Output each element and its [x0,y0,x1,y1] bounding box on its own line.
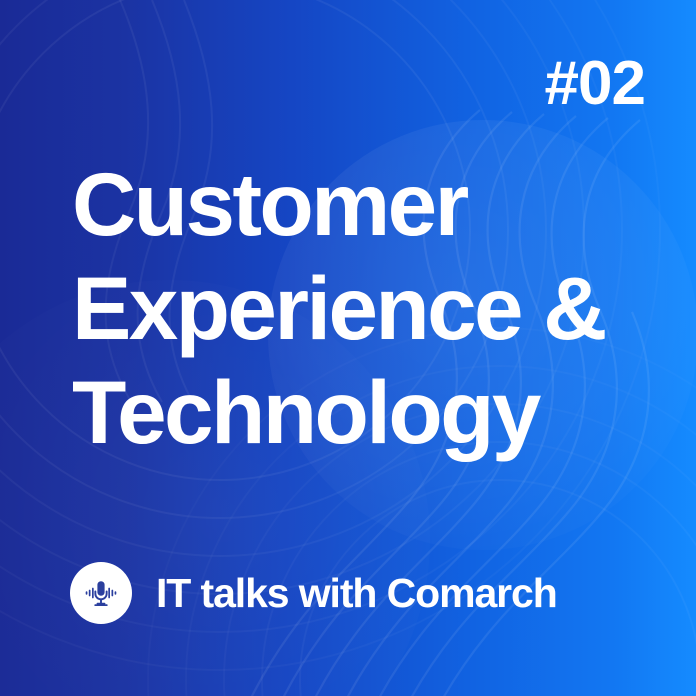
title-line-3: Technology [72,360,672,464]
brand-title: IT talks with Comarch [156,573,557,614]
title-line-1: Customer [72,152,672,256]
podcast-cover: #02 Customer Experience & Technology [0,0,696,696]
brand-footer: IT talks with Comarch [70,562,557,624]
episode-number-badge: #02 [545,53,645,115]
microphone-badge [70,562,132,624]
microphone-icon [81,573,121,613]
page-title: Customer Experience & Technology [72,152,672,464]
title-line-2: Experience & [72,256,672,360]
